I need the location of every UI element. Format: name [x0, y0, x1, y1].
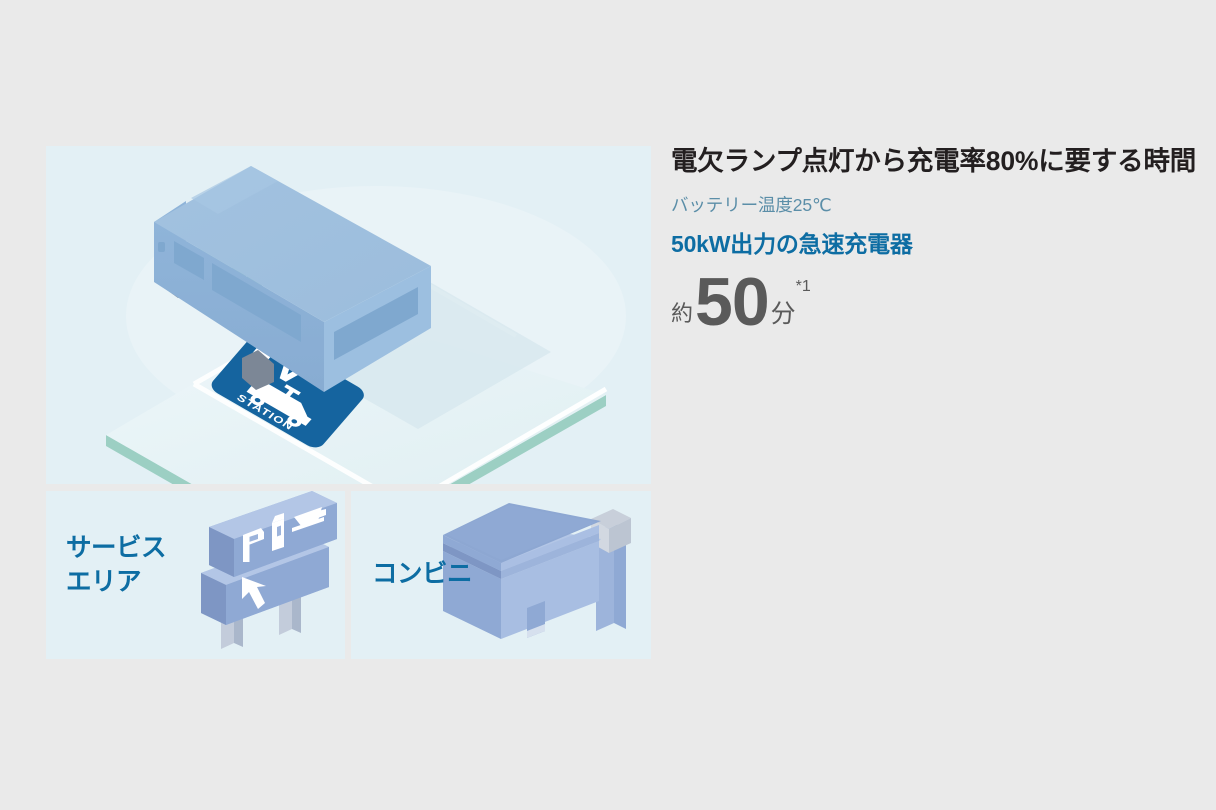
- charger-spec-label: 50kW出力の急速充電器: [671, 225, 1191, 259]
- card-convenience-store-label: コンビニ: [372, 558, 472, 592]
- charging-time-prefix: 約: [671, 303, 693, 332]
- charging-time-value: 50: [695, 273, 769, 331]
- card-service-area-label-line2: エリア: [66, 566, 166, 600]
- ev-charging-scene-svg: STATION: [46, 146, 651, 484]
- charging-time-unit: 分: [771, 302, 796, 332]
- hero-illustration-panel: STATION: [46, 146, 651, 484]
- card-service-area-label: サービス エリア: [66, 532, 166, 599]
- battery-temperature-note: バッテリー温度25℃: [671, 195, 1191, 216]
- charging-time-readout: 約 50 分 *1: [671, 273, 1191, 331]
- charging-time-footnote: *1: [796, 273, 811, 295]
- card-service-area-label-line1: サービス: [66, 532, 166, 566]
- page-title: 電欠ランプ点灯から充電率80%に要する時間: [671, 146, 1191, 177]
- charging-info-column: 電欠ランプ点灯から充電率80%に要する時間 バッテリー温度25℃ 50kW出力の…: [671, 146, 1191, 332]
- illustration-page: STATION: [0, 0, 1216, 810]
- van-charge-port: [158, 242, 165, 252]
